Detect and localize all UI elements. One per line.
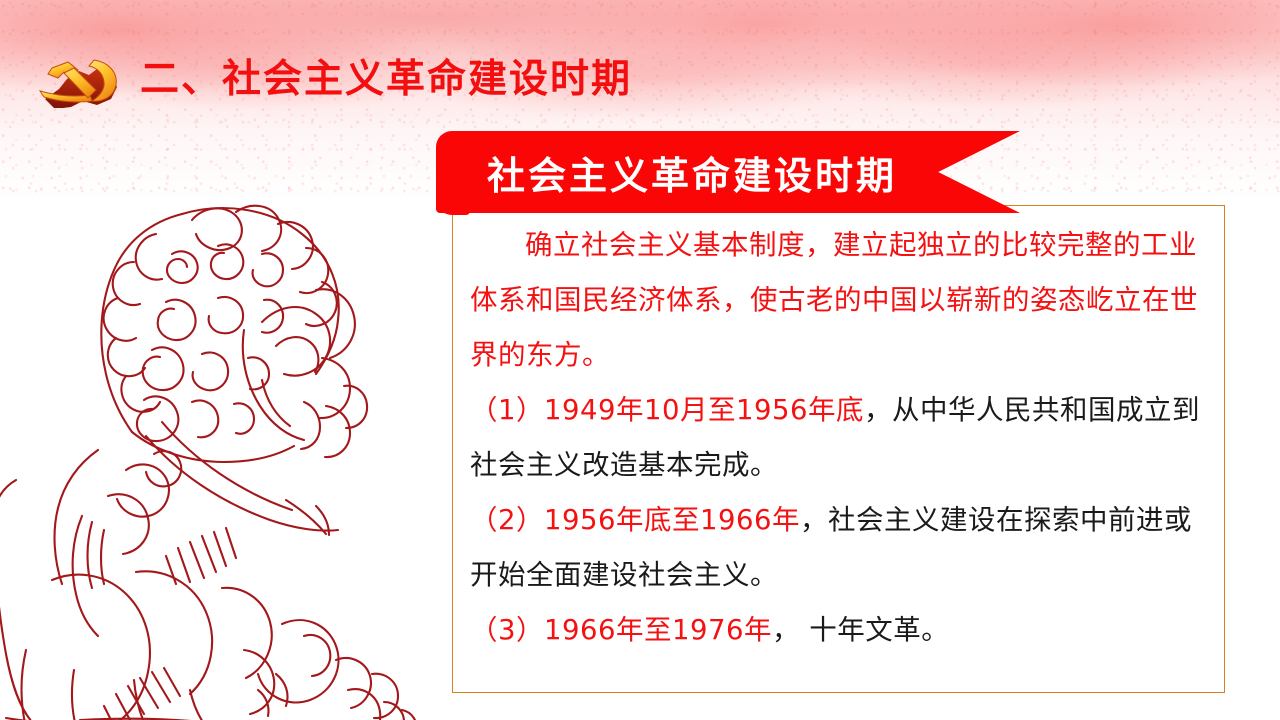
lion-icon [0,150,456,720]
item-period: 1949年10月至1956年底 [544,394,864,426]
list-item: （1）1949年10月至1956年底，从中华人民共和国成立到社会主义改造基本完成… [470,383,1210,493]
section-ribbon-banner: 社会主义革命建设时期 [436,131,1020,213]
item-marker: （3） [470,614,544,646]
cpc-hammer-sickle-emblem-icon [30,50,126,108]
item-marker: （1） [470,394,544,426]
item-description: 十年文革。 [800,614,949,646]
item-separator: ， [864,394,892,426]
slide-root: 二、社会主义革命建设时期 [0,0,1280,720]
item-separator: ， [772,614,800,646]
guardian-lion-illustration [0,150,456,720]
intro-paragraph: 确立社会主义基本制度，建立起独立的比较完整的工业体系和国民经济体系，使古老的中国… [470,218,1210,383]
slide-header: 二、社会主义革命建设时期 [30,46,632,112]
page-title: 二、社会主义革命建设时期 [140,60,632,99]
body-text-block: 确立社会主义基本制度，建立起独立的比较完整的工业体系和国民经济体系，使古老的中国… [470,218,1210,658]
list-item: （3）1966年至1976年， 十年文革。 [470,603,1210,658]
item-marker: （2） [470,504,544,536]
item-separator: ， [800,504,828,536]
item-period: 1966年至1976年 [544,614,772,646]
ribbon-title: 社会主义革命建设时期 [436,131,948,213]
item-period: 1956年底至1966年 [544,504,800,536]
list-item: （2）1956年底至1966年，社会主义建设在探索中前进或开始全面建设社会主义。 [470,493,1210,603]
